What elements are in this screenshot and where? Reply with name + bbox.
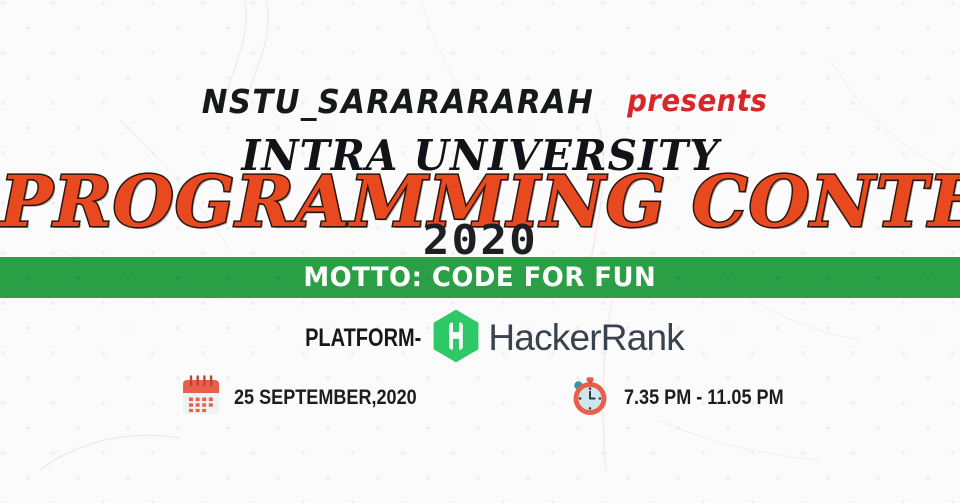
platform-label: PLATFORM- xyxy=(305,324,421,353)
hackerrank-logo: HackerRank xyxy=(430,308,684,369)
platform-row: PLATFORM- HackerRank xyxy=(0,310,960,366)
event-time: 7.35 PM - 11.05 PM xyxy=(624,386,784,410)
details-row: 25 SEPTEMBER,2020 xyxy=(0,372,960,424)
organizer-name: NSTU_SARARARARAH xyxy=(202,82,594,121)
poster-canvas: NSTU_SARARARARAHpresents INTRA UNIVERSIT… xyxy=(0,0,960,503)
hackerrank-hexagon-icon xyxy=(430,308,482,369)
time-detail: 7.35 PM - 11.05 PM xyxy=(568,372,810,424)
calendar-icon xyxy=(180,374,222,423)
motto-band: MOTTO: CODE FOR FUN xyxy=(0,257,960,298)
presents-label: presents xyxy=(627,84,767,119)
organizer-line: NSTU_SARARARARAHpresents xyxy=(0,82,960,121)
stopwatch-icon xyxy=(568,374,612,423)
event-date: 25 SEPTEMBER,2020 xyxy=(234,386,417,410)
hackerrank-wordmark: HackerRank xyxy=(488,317,684,359)
date-detail: 25 SEPTEMBER,2020 xyxy=(180,372,446,424)
motto-text: MOTTO: CODE FOR FUN xyxy=(304,262,657,293)
